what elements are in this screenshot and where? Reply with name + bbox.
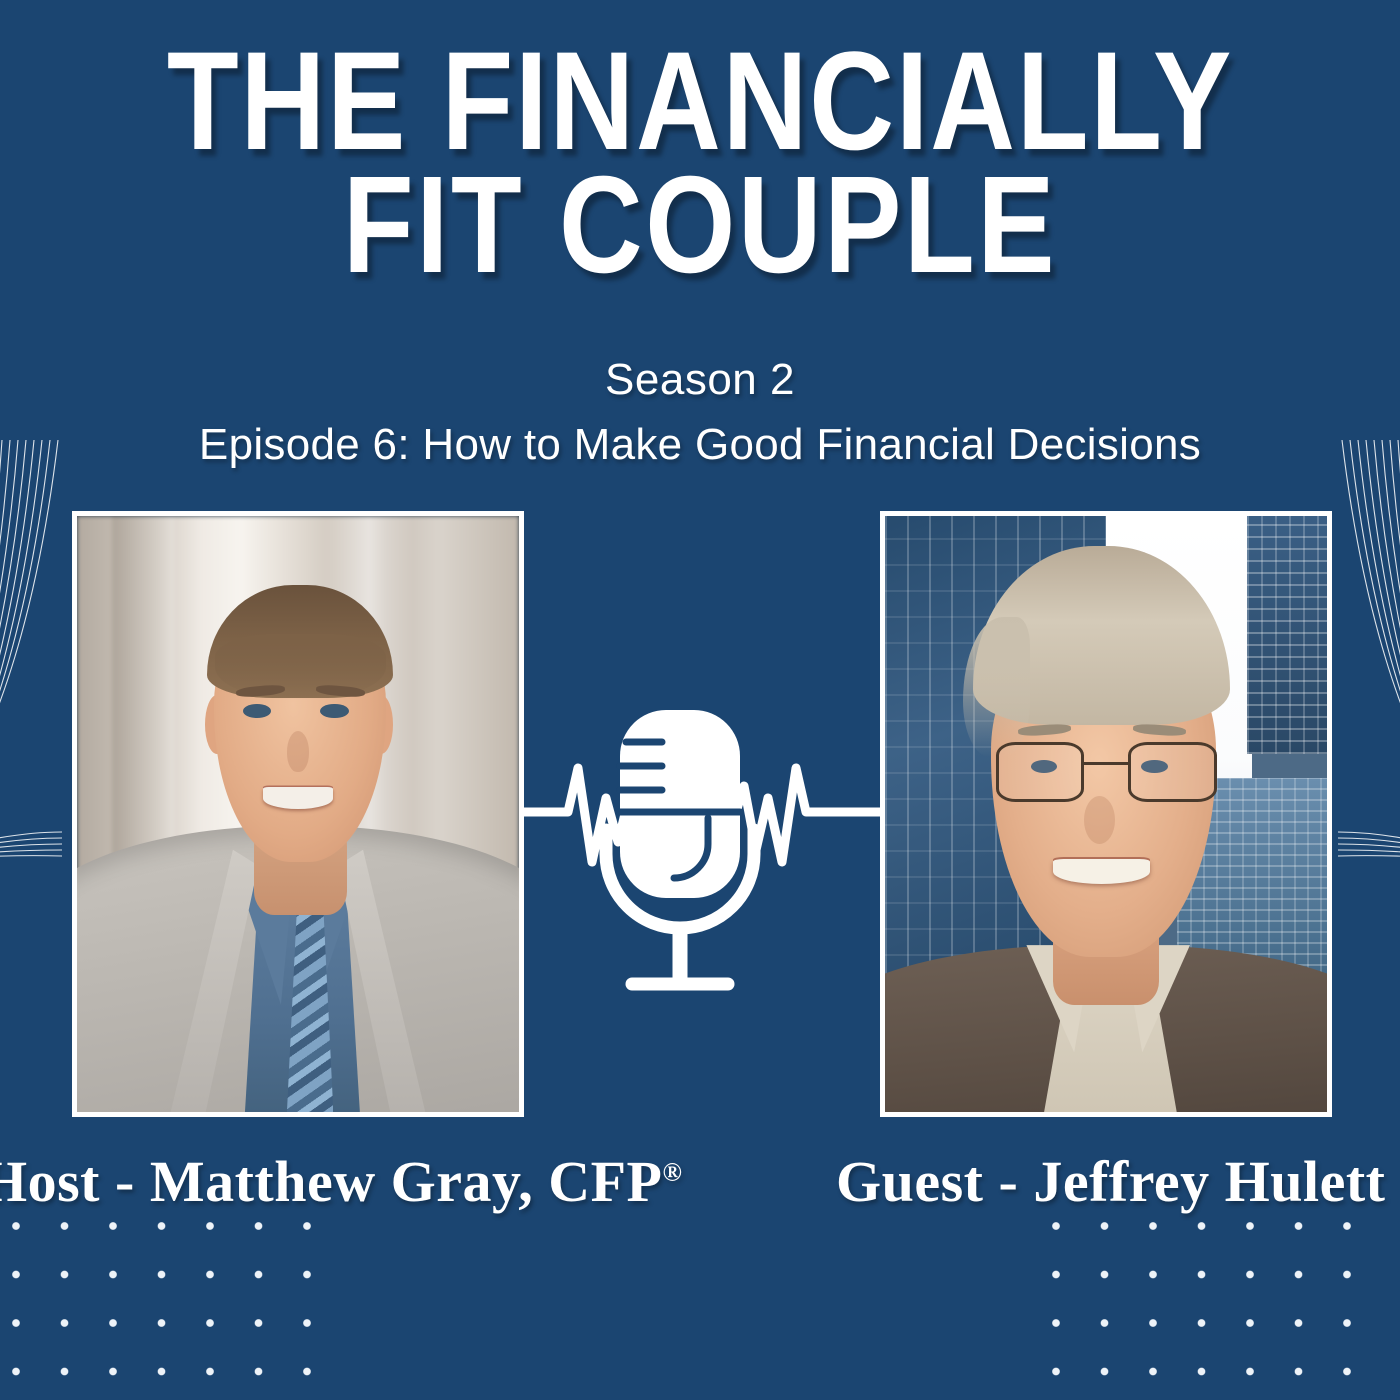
guest-photo [885,516,1327,1112]
microphone-capsule [620,710,740,898]
host-credential-mark: ® [663,1158,683,1187]
guest-lens-right [1128,742,1216,802]
guest-separator: - [999,1149,1019,1214]
season-label: Season 2 [0,355,1400,405]
podcast-cover-art: THE FINANCIALLY FIT COUPLE Season 2 Epis… [0,0,1400,1400]
title-line-2: FIT COUPLE [112,163,1288,288]
guest-portrait-frame [880,511,1332,1117]
guest-nose [1084,796,1115,844]
decorative-line-fan-left-icon [0,440,62,860]
guest-tower [1247,516,1327,754]
guest-glasses-bridge [1084,762,1128,765]
decorative-dot-grid-right [1052,1222,1388,1394]
title-line-1: THE FINANCIALLY [112,38,1288,163]
guest-eyeglasses-icon [996,742,1217,802]
host-mouth [263,787,334,808]
host-role: Host [0,1149,100,1214]
host-portrait-frame [72,511,524,1117]
microphone-graphic [520,690,880,1010]
microphone-icon [520,690,880,1010]
host-separator: - [115,1149,135,1214]
host-eye-right [320,704,349,718]
guest-name: Jeffrey Hulett [1033,1149,1385,1214]
host-nose [287,731,309,773]
page-title: THE FINANCIALLY FIT COUPLE [0,38,1400,288]
decorative-line-fan-right-icon [1338,440,1400,860]
host-name-label: Host - Matthew Gray, CFP® [0,1148,682,1215]
guest-role: Guest [836,1149,984,1214]
host-photo [77,516,519,1112]
decorative-dot-grid-left [12,1222,348,1394]
episode-label: Episode 6: How to Make Good Financial De… [0,420,1400,470]
guest-lens-left [996,742,1084,802]
guest-name-label: Guest - Jeffrey Hulett [836,1148,1386,1215]
host-name: Matthew Gray, CFP [150,1149,663,1214]
guest-mouth [1053,859,1150,884]
